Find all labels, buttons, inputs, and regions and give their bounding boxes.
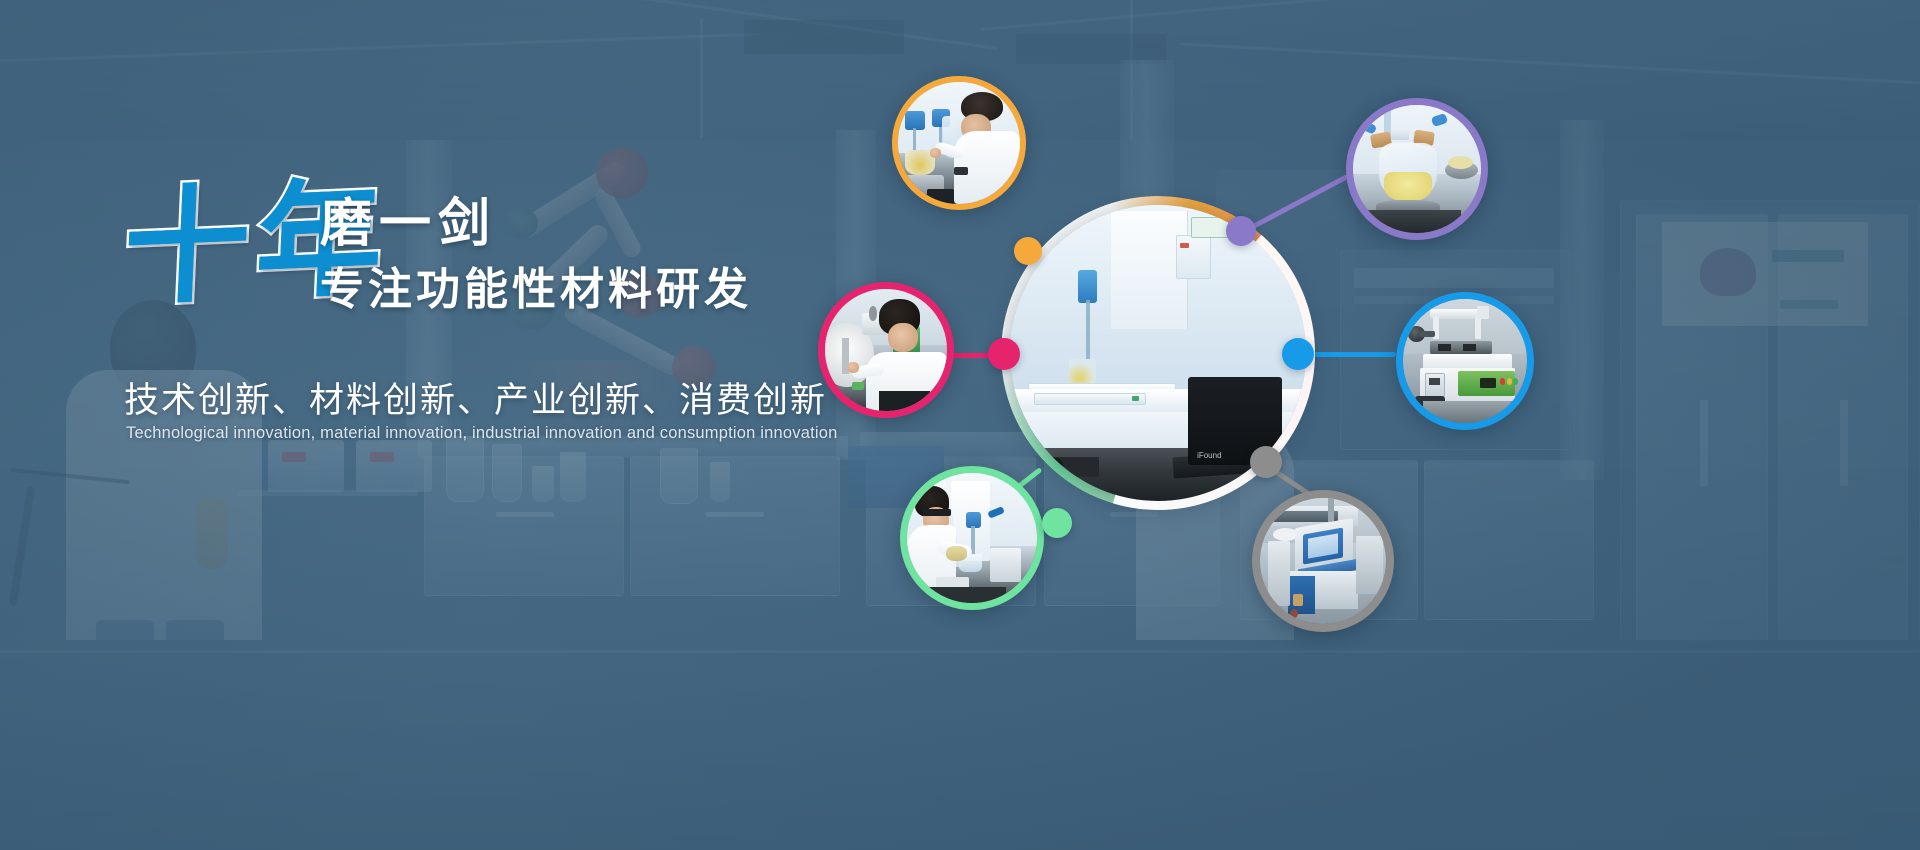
node-dot-green <box>1042 508 1072 538</box>
node-dot-gray <box>1250 446 1282 478</box>
node-dot-blue <box>1282 338 1314 370</box>
node-dot-pink <box>988 338 1020 370</box>
headline-line-1: 磨一剑 <box>320 194 752 255</box>
node-reactor[interactable] <box>892 76 1026 210</box>
headline-right: 磨一剑 专注功能性材料研发 <box>320 194 752 319</box>
node-flask[interactable] <box>1346 98 1488 240</box>
headline-line-2: 专注功能性材料研发 <box>320 261 752 318</box>
node-fumehood[interactable] <box>900 466 1044 610</box>
node-dot-purple <box>1226 216 1256 246</box>
node-instrument[interactable] <box>1396 292 1534 430</box>
hero-banner: 十年 十年 磨一剑 专注功能性材料研发 技术创新、材料创新、产业创新、消费创新 … <box>0 0 1920 850</box>
node-dot-orange <box>1014 237 1042 265</box>
circle-composition: iFound <box>800 60 1920 850</box>
headline-block: 十年 十年 磨一剑 专注功能性材料研发 技术创新、材料创新、产业创新、消费创新 … <box>124 186 844 336</box>
node-tensile-test[interactable] <box>818 282 954 418</box>
subtitle-chinese: 技术创新、材料创新、产业创新、消费创新 <box>124 372 827 423</box>
node-analyzer[interactable] <box>1252 490 1394 632</box>
subtitle-english: Technological innovation, material innov… <box>126 424 838 443</box>
headline-row: 十年 十年 磨一剑 专注功能性材料研发 <box>124 186 844 336</box>
